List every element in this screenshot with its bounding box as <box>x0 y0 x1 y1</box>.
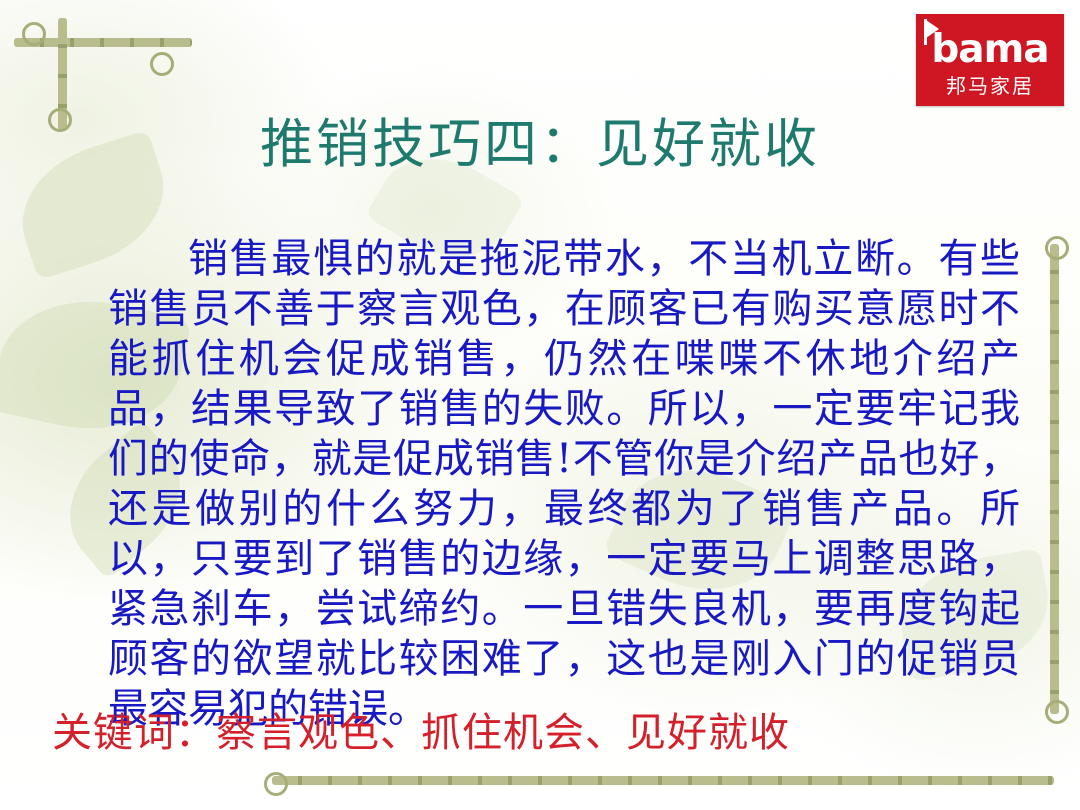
logo-wordmark: bama <box>931 30 1048 69</box>
bamboo-knot-icon <box>1045 700 1069 724</box>
bamboo-knot-icon <box>1045 236 1069 260</box>
slide-title: 推销技巧四：见好就收 <box>0 102 1080 178</box>
bamboo-border-bottom <box>272 776 1054 785</box>
bamboo-knot-icon <box>22 22 46 46</box>
bamboo-knot-icon <box>150 52 174 76</box>
logo-chinese-name: 邦马家居 <box>946 76 1034 96</box>
bamboo-border-right <box>1050 244 1059 714</box>
slide-canvas: bama 邦马家居 推销技巧四：见好就收 销售最惧的就是拖泥带水，不当机立断。有… <box>0 0 1080 810</box>
brand-logo: bama 邦马家居 <box>916 14 1064 106</box>
logo-flag-icon <box>926 20 939 38</box>
slide-keywords: 关键词：察言观色、抓住机会、见好就收 <box>52 700 790 758</box>
slide-body-text: 销售最惧的就是拖泥带水，不当机立断。有些销售员不善于察言观色，在顾客已有购买意愿… <box>108 234 1020 734</box>
bamboo-knot-icon <box>264 772 288 796</box>
